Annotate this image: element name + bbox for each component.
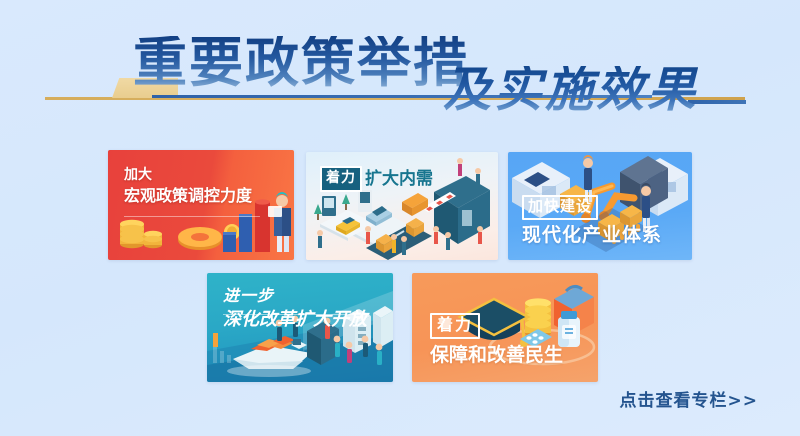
- policy-card-macro-policy-label: 加大 宏观政策调控力度: [124, 167, 252, 205]
- policy-card-improve-livelihood-label: 着力 保障和改善民生: [430, 313, 563, 366]
- policy-card-expand-demand[interactable]: 着力扩大内需: [306, 152, 498, 260]
- card-2-line2: 扩大内需: [365, 169, 433, 189]
- card-5-line2: 保障和改善民生: [430, 344, 563, 366]
- policy-card-modern-industry-label: 加快建设 现代化产业体系: [522, 195, 662, 246]
- card-4-line2: 深化改革扩大开放: [223, 309, 367, 330]
- card-1-divider: [124, 216, 260, 217]
- policy-card-modern-industry[interactable]: 加快建设 现代化产业体系: [508, 152, 692, 260]
- policy-card-improve-livelihood[interactable]: 着力 保障和改善民生: [412, 273, 598, 382]
- policy-card-deepen-reform[interactable]: 进一步 深化改革扩大开放: [207, 273, 393, 382]
- view-column-link[interactable]: 点击查看专栏>>: [620, 386, 759, 411]
- card-5-line1: 着力: [430, 313, 480, 339]
- policy-card-macro-policy[interactable]: 加大 宏观政策调控力度: [108, 150, 294, 260]
- card-1-line1: 加大: [124, 167, 252, 184]
- card-3-line2: 现代化产业体系: [522, 224, 662, 246]
- card-4-line1: 进一步: [223, 287, 367, 306]
- page-title-block: 重要政策举措 及实施效果: [0, 0, 800, 140]
- policy-card-expand-demand-label: 着力扩大内需: [320, 166, 433, 192]
- card-1-line2: 宏观政策调控力度: [124, 187, 252, 206]
- card-3-line1: 加快建设: [522, 195, 598, 220]
- policy-banner: 重要政策举措 及实施效果: [0, 0, 800, 436]
- policy-card-deepen-reform-label: 进一步 深化改革扩大开放: [223, 287, 367, 330]
- page-title-primary: 重要政策举措: [133, 36, 469, 90]
- page-title-secondary: 及实施效果: [443, 66, 698, 114]
- card-2-line1: 着力: [320, 166, 362, 192]
